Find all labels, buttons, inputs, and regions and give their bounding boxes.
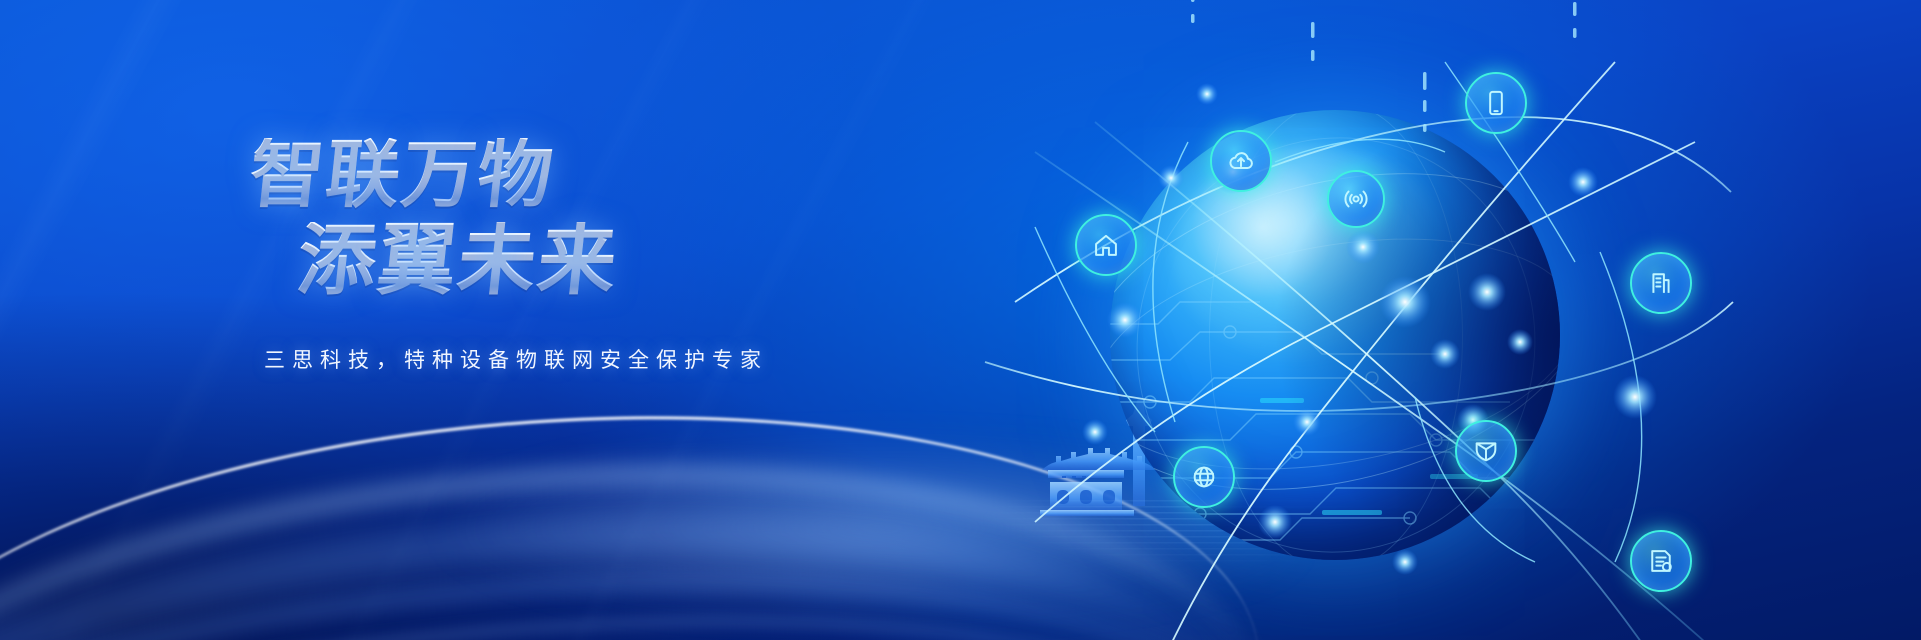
network-connections bbox=[975, 2, 1735, 640]
headline: 智联万物 添翼未来 bbox=[250, 138, 1010, 300]
shield-icon bbox=[1472, 437, 1500, 465]
node-smartphone[interactable] bbox=[1465, 72, 1527, 134]
document-chart-icon bbox=[1647, 547, 1675, 575]
node-cloud-upload[interactable] bbox=[1210, 130, 1272, 192]
node-globe[interactable] bbox=[1173, 446, 1235, 508]
home-icon bbox=[1092, 231, 1120, 259]
node-document-chart[interactable] bbox=[1630, 530, 1692, 592]
smartphone-icon bbox=[1482, 89, 1510, 117]
node-home[interactable] bbox=[1075, 214, 1137, 276]
node-shield[interactable] bbox=[1455, 420, 1517, 482]
node-building[interactable] bbox=[1630, 252, 1692, 314]
headline-block: 智联万物 添翼未来 三思科技，特种设备物联网安全保护专家 bbox=[250, 138, 1010, 374]
banner-subtitle: 三思科技，特种设备物联网安全保护专家 bbox=[264, 344, 1010, 374]
globe-icon bbox=[1190, 463, 1218, 491]
wifi-signal-icon bbox=[1342, 185, 1370, 213]
network-globe-graphic bbox=[1055, 62, 1615, 622]
building-icon bbox=[1647, 269, 1675, 297]
headline-line-2: 添翼未来 bbox=[294, 222, 1014, 300]
cloud-upload-icon bbox=[1227, 147, 1255, 175]
headline-line-1: 智联万物 bbox=[246, 138, 1014, 212]
hero-banner: 智联万物 添翼未来 三思科技，特种设备物联网安全保护专家 bbox=[0, 0, 1921, 640]
node-wifi-signal[interactable] bbox=[1327, 170, 1385, 228]
